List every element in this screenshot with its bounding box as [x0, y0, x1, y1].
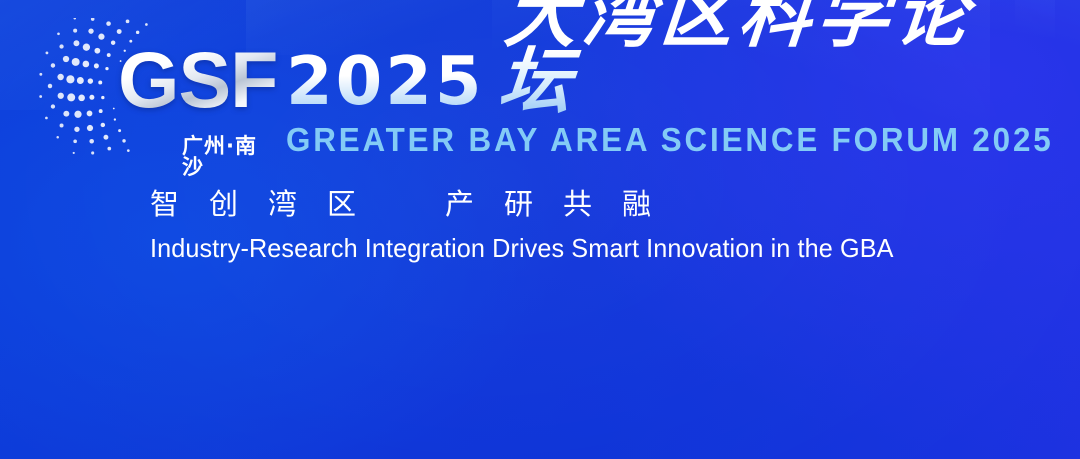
title-year: 2025 [286, 50, 484, 114]
tagline-chinese: 智创湾区 产研共融 [150, 186, 940, 222]
event-banner: GSF 广州·南沙 2025 大湾区科学论坛 GREATER BAY AREA … [0, 0, 1080, 459]
logo-city-label: 广州·南沙 [182, 136, 270, 178]
title-chinese: 大湾区科学论坛 [497, 0, 1052, 114]
gsf-wordmark: GSF [118, 40, 277, 119]
title-row: 2025 大湾区科学论坛 [286, 34, 1046, 114]
gsf-logo: GSF 广州·南沙 [30, 18, 270, 158]
tagline-block: 智创湾区 产研共融 Industry-Research Integration … [150, 186, 940, 264]
title-english: GREATER BAY AREA SCIENCE FORUM 2025 [286, 123, 1008, 158]
title-block: 2025 大湾区科学论坛 GREATER BAY AREA SCIENCE FO… [286, 34, 1046, 158]
tagline-english: Industry-Research Integration Drives Sma… [150, 233, 916, 264]
